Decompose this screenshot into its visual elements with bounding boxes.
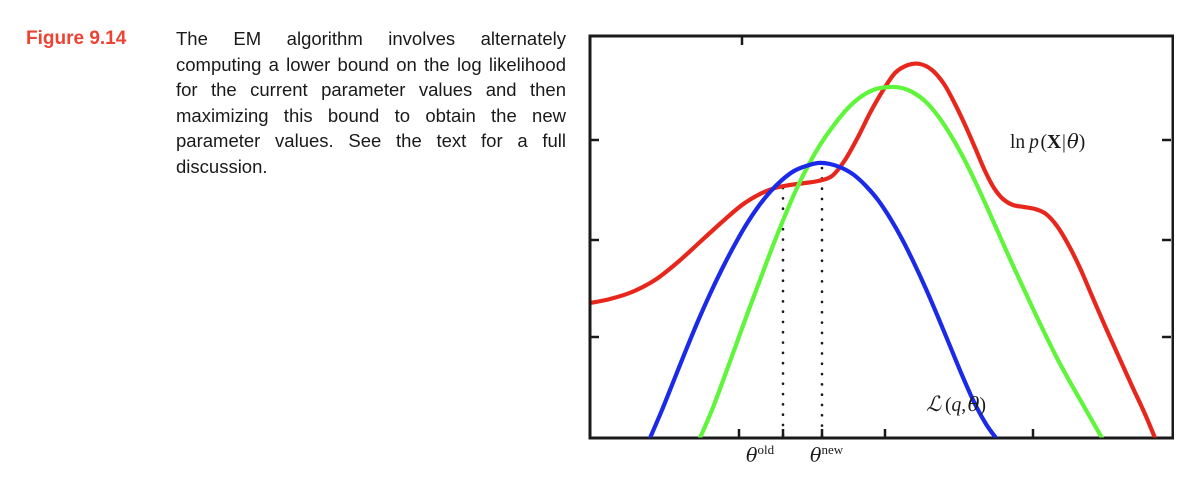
- figure-caption-text: The EM algorithm involves alternately co…: [176, 26, 566, 179]
- log-likelihood-curve-label: ln p (X|θ): [1010, 130, 1085, 154]
- figure-9-14: Figure 9.14 The EM algorithm involves al…: [0, 0, 1200, 479]
- x-tick-label-theta-new: θnew: [810, 442, 843, 467]
- lower-bound-curve-label: ℒ (q, θ): [926, 392, 986, 417]
- em-algorithm-chart: [588, 34, 1174, 479]
- caption-block: Figure 9.14 The EM algorithm involves al…: [26, 26, 566, 179]
- plot-area: θold θnew ln p (X|θ) ℒ (q, θ): [588, 34, 1174, 479]
- x-tick-label-theta-old: θold: [746, 442, 774, 467]
- curve-group: [590, 64, 1155, 438]
- figure-number-label: Figure 9.14: [26, 26, 176, 52]
